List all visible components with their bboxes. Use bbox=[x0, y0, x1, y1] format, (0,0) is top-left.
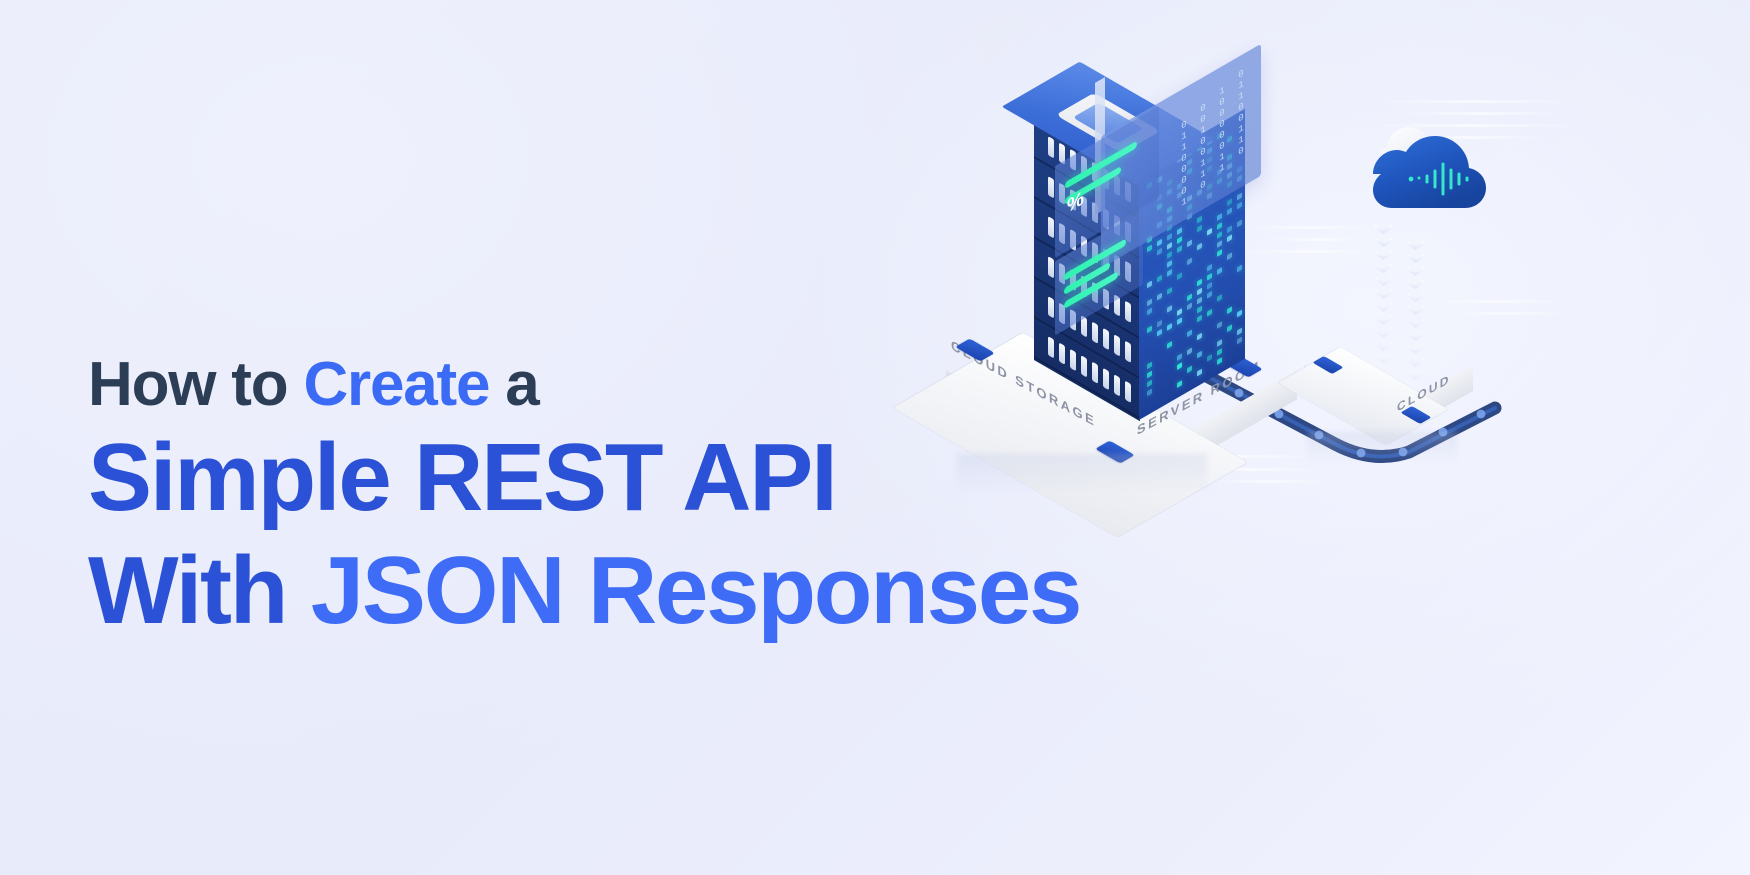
rack-led bbox=[1227, 225, 1232, 233]
rack-led bbox=[1217, 267, 1222, 275]
rack-slot bbox=[1125, 381, 1131, 403]
rack-led bbox=[1187, 365, 1192, 373]
data-chevron bbox=[1407, 305, 1424, 315]
rack-slot bbox=[1114, 374, 1120, 396]
rack-led bbox=[1197, 243, 1202, 251]
rack-led bbox=[1227, 324, 1232, 332]
data-chevron bbox=[1407, 331, 1424, 341]
rack-led bbox=[1217, 348, 1222, 356]
data-chevron bbox=[1407, 279, 1424, 289]
rack-led bbox=[1197, 288, 1202, 296]
rack-led bbox=[1227, 234, 1232, 242]
rack-led bbox=[1157, 239, 1162, 247]
rack-led bbox=[1217, 249, 1222, 257]
cloud-icon-wrap bbox=[1335, 114, 1515, 234]
rack-led bbox=[1157, 248, 1162, 256]
rack-led bbox=[1237, 220, 1242, 228]
rack-led bbox=[1147, 388, 1152, 396]
data-chevron bbox=[1375, 276, 1392, 286]
headline-line1-part1: How to bbox=[88, 350, 303, 419]
data-chevron bbox=[1375, 328, 1392, 338]
rack-led bbox=[1197, 369, 1202, 377]
rack-led bbox=[1167, 341, 1172, 349]
rack-slot bbox=[1103, 328, 1109, 350]
rack-led bbox=[1187, 329, 1192, 337]
rack-led bbox=[1187, 293, 1192, 301]
rack-led bbox=[1177, 317, 1182, 325]
rack-led bbox=[1197, 216, 1202, 224]
rack-slot bbox=[1081, 355, 1087, 377]
rack-led bbox=[1167, 260, 1172, 268]
rack-led bbox=[1237, 202, 1242, 210]
data-chevron bbox=[1407, 292, 1424, 302]
rack-led bbox=[1207, 282, 1212, 290]
rack-led bbox=[1237, 310, 1242, 318]
rack-led bbox=[1167, 323, 1172, 331]
platform-reflection-right bbox=[1307, 432, 1457, 464]
rack-led bbox=[1237, 337, 1242, 345]
rack-led bbox=[1187, 347, 1192, 355]
rack-led bbox=[1217, 240, 1222, 248]
rack-led bbox=[1167, 233, 1172, 241]
rack-led bbox=[1147, 280, 1152, 288]
rack-led bbox=[1187, 257, 1192, 265]
rack-led bbox=[1227, 207, 1232, 215]
rack-slot bbox=[1114, 334, 1120, 356]
binary-column: 10000011 bbox=[1215, 83, 1228, 179]
data-chevron bbox=[1407, 318, 1424, 328]
headline-line1-part3: a bbox=[489, 350, 538, 419]
rack-led bbox=[1167, 269, 1172, 277]
rack-led bbox=[1157, 320, 1162, 328]
rack-led bbox=[1207, 264, 1212, 272]
rack-led bbox=[1167, 251, 1172, 259]
platform-reflection-left bbox=[957, 454, 1207, 494]
rack-led bbox=[1177, 227, 1182, 235]
rack-led bbox=[1217, 222, 1222, 230]
rack-led bbox=[1157, 275, 1162, 283]
rack-led bbox=[1177, 353, 1182, 361]
rack-slot bbox=[1048, 256, 1054, 278]
rack-slot bbox=[1048, 136, 1054, 158]
rack-led bbox=[1197, 225, 1202, 233]
binary-column: 00100110 bbox=[1196, 100, 1209, 196]
rack-slot bbox=[1048, 296, 1054, 318]
rack-led bbox=[1197, 351, 1202, 359]
rack-led bbox=[1217, 357, 1222, 365]
rack-led bbox=[1207, 228, 1212, 236]
data-chevron bbox=[1375, 302, 1392, 312]
rack-led bbox=[1157, 329, 1162, 337]
data-chevron bbox=[1407, 266, 1424, 276]
rack-slot bbox=[1125, 341, 1131, 363]
data-chevron bbox=[1407, 240, 1424, 250]
binary-column: 01100001 bbox=[1177, 117, 1190, 213]
rack-slot bbox=[1092, 321, 1098, 343]
rack-led bbox=[1207, 273, 1212, 281]
rack-led bbox=[1237, 328, 1242, 336]
rack-led bbox=[1187, 302, 1192, 310]
rack-led bbox=[1147, 298, 1152, 306]
rack-led bbox=[1147, 307, 1152, 315]
rack-led bbox=[1197, 306, 1202, 314]
rack-led bbox=[1217, 294, 1222, 302]
rack-led bbox=[1207, 309, 1212, 317]
rack-led bbox=[1167, 242, 1172, 250]
headline-line3-part2: JSON Responses bbox=[311, 537, 1081, 644]
rack-led bbox=[1147, 379, 1152, 387]
rack-led bbox=[1217, 339, 1222, 347]
rack-led bbox=[1177, 362, 1182, 370]
rack-led bbox=[1207, 354, 1212, 362]
data-chevron bbox=[1375, 250, 1392, 260]
rack-slot bbox=[1125, 301, 1131, 323]
data-chevron bbox=[1375, 289, 1392, 299]
rack-led bbox=[1227, 306, 1232, 314]
data-chevron bbox=[1375, 315, 1392, 325]
rack-led bbox=[1147, 370, 1152, 378]
rack-slot bbox=[1048, 176, 1054, 198]
rack-slot bbox=[1103, 368, 1109, 390]
rack-slot bbox=[1070, 349, 1076, 371]
rack-led bbox=[1177, 272, 1182, 280]
rack-led bbox=[1177, 236, 1182, 244]
rack-slot bbox=[1092, 361, 1098, 383]
rack-led bbox=[1177, 245, 1182, 253]
headline-line3-part1: With bbox=[88, 537, 311, 644]
rack-led bbox=[1147, 325, 1152, 333]
rack-led bbox=[1147, 244, 1152, 252]
rack-led bbox=[1207, 291, 1212, 299]
rack-led bbox=[1167, 305, 1172, 313]
rack-led bbox=[1147, 361, 1152, 369]
rack-led bbox=[1197, 279, 1202, 287]
rack-led bbox=[1237, 193, 1242, 201]
data-chevron bbox=[1375, 237, 1392, 247]
rack-slot bbox=[1048, 336, 1054, 358]
rack-slot bbox=[1048, 216, 1054, 238]
rack-led bbox=[1197, 297, 1202, 305]
rack-led bbox=[1187, 239, 1192, 247]
rack-slot bbox=[1059, 342, 1065, 364]
rack-led bbox=[1217, 321, 1222, 329]
cloud-icon bbox=[1335, 114, 1515, 234]
rack-led bbox=[1197, 333, 1202, 341]
rack-led bbox=[1197, 315, 1202, 323]
binary-column: 01100110 bbox=[1234, 66, 1247, 162]
rack-led bbox=[1177, 380, 1182, 388]
server-cloud-illustration: CLOUD STORAGE SERVER ROOM 01100110100000… bbox=[905, 18, 1605, 488]
rack-led bbox=[1217, 213, 1222, 221]
rack-led bbox=[1217, 231, 1222, 239]
rack-led bbox=[1157, 293, 1162, 301]
rack-led bbox=[1177, 308, 1182, 316]
rack-led bbox=[1237, 265, 1242, 273]
data-chevron bbox=[1407, 253, 1424, 263]
headline-line-3: With JSON Responses bbox=[88, 537, 1088, 645]
rack-led bbox=[1227, 198, 1232, 206]
headline-line1-accent: Create bbox=[303, 350, 489, 419]
data-chevron bbox=[1375, 263, 1392, 273]
rack-led bbox=[1167, 287, 1172, 295]
rack-led bbox=[1227, 252, 1232, 260]
